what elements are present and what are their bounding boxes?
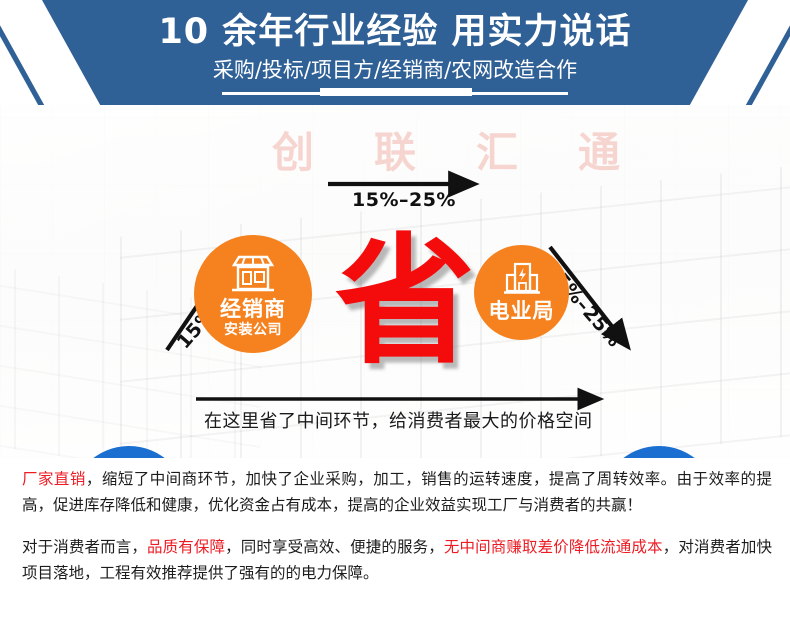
footer-paragraph-1: 厂家直销，缩短了中间商环节，加快了企业采购，加工，销售的运转速度，提高了周转效率… xyxy=(22,466,772,518)
power-building-icon xyxy=(502,262,542,296)
header-subtitle: 采购/投标/项目方/经销商/农网改造合作 xyxy=(0,57,790,83)
footer-description: 厂家直销，缩短了中间商环节，加快了企业采购，加工，销售的运转速度，提高了周转效率… xyxy=(0,458,790,619)
node-dealer[interactable]: 经销商 安装公司 xyxy=(194,235,312,353)
diagram-stage: 创 联 汇 通 15%–25% 15%–25% 15%–25% 在这里省了中间环… xyxy=(0,105,790,458)
footer-p2-part1: 对于消费者而言， xyxy=(22,538,147,556)
header-title: 10 余年行业经验 用实力说话 xyxy=(0,11,790,53)
footer-paragraph-2: 对于消费者而言，品质有保障，同时享受高效、便捷的服务，无中间商赚取差价降低流通成… xyxy=(22,534,772,586)
footer-p2-part2: ，同时享受高效、便捷的服务， xyxy=(225,538,444,556)
arrow-label-dealer-to-bureau: 15%–25% xyxy=(352,189,456,211)
promo-banner: 10 余年行业经验 用实力说话 采购/投标/项目方/经销商/农网改造合作 创 联… xyxy=(0,0,790,619)
node-dealer-title: 经销商 xyxy=(220,297,286,321)
header-divider-center xyxy=(320,88,472,96)
shop-icon xyxy=(229,254,277,294)
footer-p2-highlight-2: 无中间商赚取差价降低流通成本 xyxy=(444,538,663,556)
node-bureau[interactable]: 电业局 xyxy=(474,245,569,340)
center-save-character: 省 xyxy=(320,233,490,373)
arrow-label-company-to-consumer: 在这里省了中间环节，给消费者最大的价格空间 xyxy=(204,407,593,433)
header-banner: 10 余年行业经验 用实力说话 采购/投标/项目方/经销商/农网改造合作 xyxy=(0,0,790,105)
node-dealer-subtitle: 安装公司 xyxy=(224,322,282,339)
footer-p1-rest: ，缩短了中间商环节，加快了企业采购，加工，销售的运转速度，提高了周转效率。由于效… xyxy=(22,470,772,514)
footer-p2-highlight-1: 品质有保障 xyxy=(147,538,225,556)
footer-p1-highlight: 厂家直销 xyxy=(22,470,86,488)
node-bureau-title: 电业局 xyxy=(489,299,555,323)
